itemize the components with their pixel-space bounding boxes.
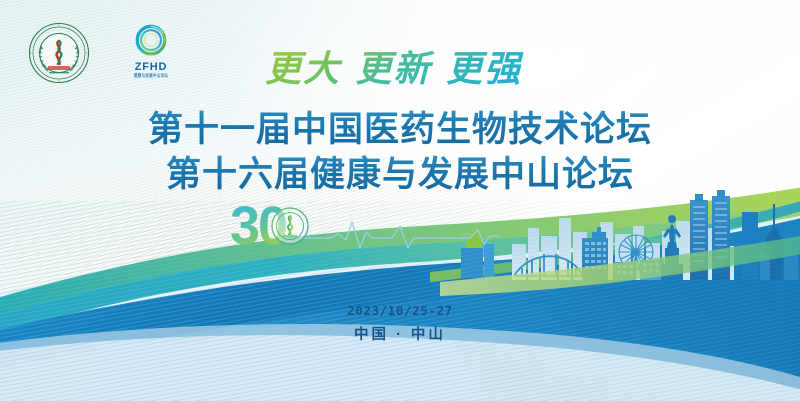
slogan-text: 更大 更新 更强 bbox=[265, 48, 524, 90]
zfhd-ring-icon bbox=[129, 23, 173, 61]
event-date: 2023/10/25-27 bbox=[0, 303, 800, 318]
zfhd-logo: ZFHD 健康与发展中山论坛 bbox=[112, 22, 190, 80]
zfhd-subtitle-text: 健康与发展中山论坛 bbox=[134, 75, 168, 79]
slogan-calligraphy: 更大 更新 更强 bbox=[265, 44, 555, 92]
anniversary-seal bbox=[272, 208, 308, 244]
event-info-block: 2023/10/25-27 中国 · 中山 bbox=[0, 303, 800, 344]
zfhd-abbr-text: ZFHD bbox=[135, 62, 168, 73]
page-title-line-1: 第十一届中国医药生物技术论坛 bbox=[0, 101, 800, 152]
event-location: 中国 · 中山 bbox=[0, 323, 800, 344]
page-title-line-2: 第十六届健康与发展中山论坛 bbox=[0, 146, 800, 197]
background-texture-bottom bbox=[0, 201, 800, 401]
conference-poster: ZFHD 健康与发展中山论坛 更大 更新 更强 第十一届中国医药生物技术论坛 第… bbox=[0, 0, 800, 401]
anniversary-30-emblem: 30 bbox=[228, 194, 320, 258]
csbta-emblem-logo bbox=[28, 22, 90, 84]
